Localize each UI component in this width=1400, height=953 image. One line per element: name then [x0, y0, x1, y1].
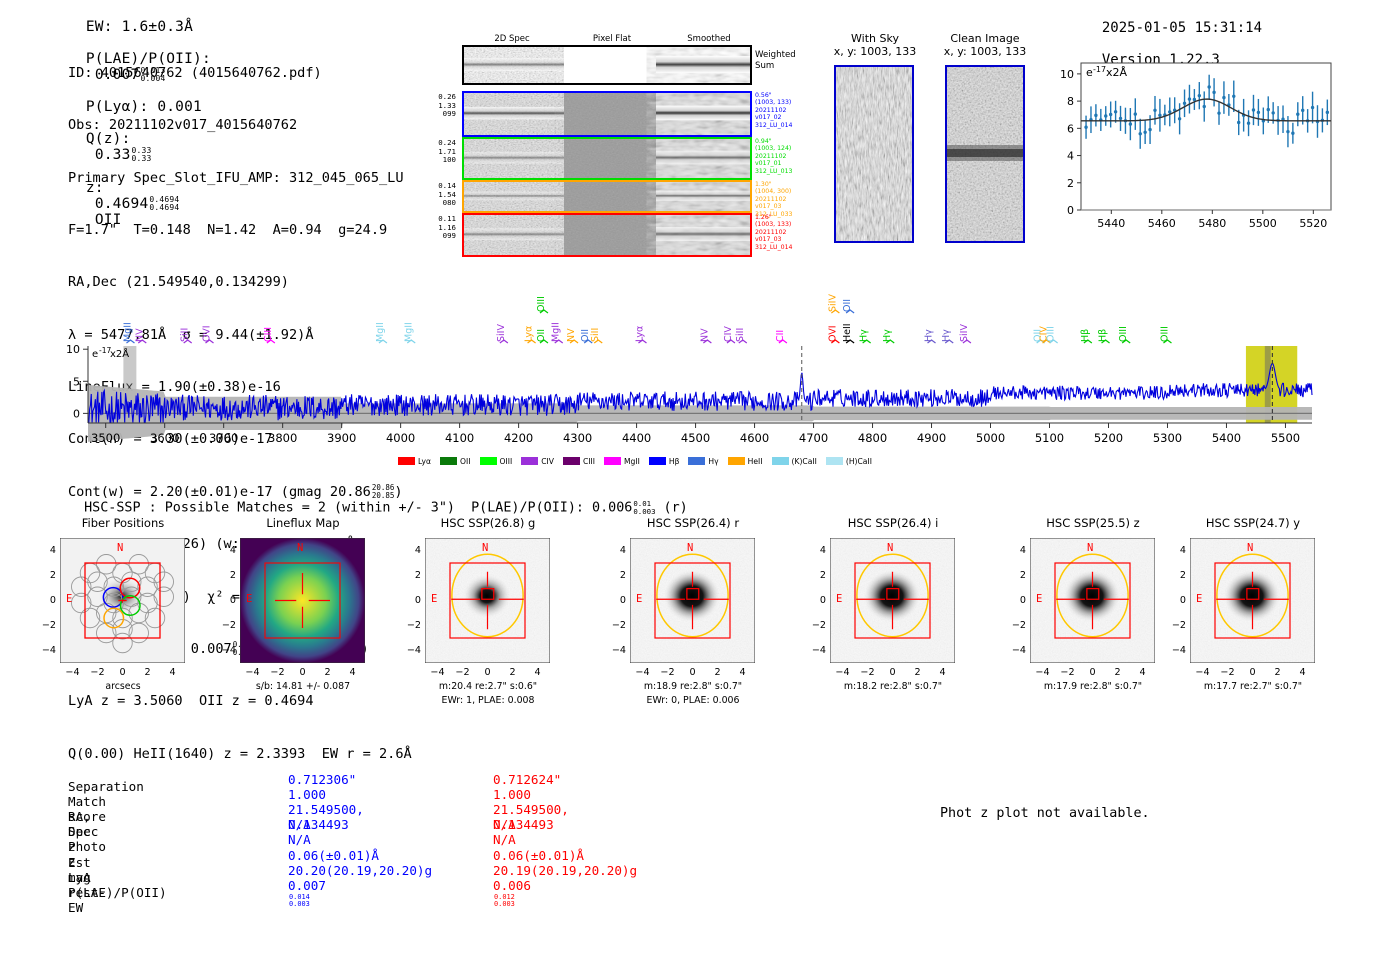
svg-text:SiII: SiII [180, 328, 191, 342]
panel-2-xtick: 0 [480, 667, 496, 678]
panel-1-caption1: s/b: 14.81 +/- 0.087 [218, 681, 388, 692]
panel-6-xtick: 0 [1245, 667, 1261, 678]
panel-3-ytick: −4 [604, 645, 626, 656]
with-sky-image [834, 65, 914, 243]
panel-1-ytick: −4 [214, 645, 236, 656]
info-q-heii: Q(0.00) HeII(1640) z = 2.3393 EW r = 2.6… [68, 746, 412, 763]
weighted-sum-line1: Weighted [755, 50, 796, 61]
fiber-right-value: 1.26" [755, 214, 815, 221]
svg-text:5520: 5520 [1299, 217, 1327, 230]
panel-title-5: HSC SSP(25.5) z [1018, 516, 1168, 530]
legend-label: Lyα [418, 457, 431, 466]
legend-label: Hγ [708, 457, 718, 466]
panel-4-xtick: −2 [860, 667, 876, 678]
table-match1-value-4: N/A [288, 832, 311, 847]
panel-3-ytick: 2 [604, 570, 626, 581]
svg-text:SiIV: SiIV [827, 294, 838, 312]
panel-1-ytick: 4 [214, 545, 236, 556]
svg-text:5200: 5200 [1094, 431, 1123, 445]
panel-5-ytick: −2 [1004, 620, 1026, 631]
svg-text:4400: 4400 [622, 431, 651, 445]
panel-5-ytick: 2 [1004, 570, 1026, 581]
table-label-0: Separation [68, 779, 144, 794]
fiber-left-value: 099 [412, 110, 456, 119]
fiber-right-value: 20211102 [755, 107, 815, 114]
svg-text:5500: 5500 [1271, 431, 1300, 445]
svg-text:5400: 5400 [1212, 431, 1241, 445]
svg-text:3800: 3800 [268, 431, 297, 445]
panel-4-ytick: 0 [804, 595, 826, 606]
svg-text:MgII: MgII [122, 322, 133, 342]
svg-text:OII: OII [842, 299, 853, 312]
fiber-right-value: 312_LU_014 [755, 244, 815, 251]
panel-title-4: HSC SSP(26.4) i [818, 516, 968, 530]
panel-title-3: HSC SSP(26.4) r [618, 516, 768, 530]
svg-text:+: + [120, 597, 126, 607]
fiber-4-right-labels: 1.26"(1003, 133)20211102v017_03312_LU_01… [755, 214, 815, 251]
svg-text:0: 0 [1067, 204, 1074, 217]
svg-text:-17: -17 [1093, 65, 1106, 74]
svg-text:e: e [92, 349, 98, 360]
compass-east-2: E [431, 593, 437, 605]
panel-2-ytick: 0 [399, 595, 421, 606]
panel-4-xtick: 0 [885, 667, 901, 678]
panel-2-xtick: −2 [455, 667, 471, 678]
clean-image-cutout [945, 65, 1025, 243]
svg-text:4000: 4000 [386, 431, 415, 445]
svg-text:Hγ: Hγ [924, 329, 935, 342]
svg-text:10: 10 [66, 343, 80, 356]
panel-0-xtick: −4 [65, 667, 81, 678]
panel-4-ytick: 4 [804, 545, 826, 556]
svg-text:4800: 4800 [858, 431, 887, 445]
panel-2-ytick: 4 [399, 545, 421, 556]
svg-text:Hγ: Hγ [859, 329, 870, 342]
panel-0-xtick: 0 [115, 667, 131, 678]
weighted-sum-panel [462, 45, 752, 85]
svg-text:4200: 4200 [504, 431, 533, 445]
panel-5-ytick: −4 [1004, 645, 1026, 656]
panel-4-ytick: −4 [804, 645, 826, 656]
table-match2-value-5: 0.06(±0.01)Å [493, 848, 584, 863]
col-title-2dspec: 2D Spec [462, 34, 562, 44]
photz-unavailable-note: Phot z plot not available. [940, 806, 1150, 821]
panel-image-6 [1190, 538, 1315, 663]
info-primary-spec: Primary Spec_Slot_IFU_AMP: 312_045_065_L… [68, 170, 412, 187]
panel-0-xtick: 4 [165, 667, 181, 678]
svg-text:SiIV: SiIV [959, 324, 970, 342]
fiber-left-value: 100 [412, 156, 456, 165]
panel-1-xtick: −4 [245, 667, 261, 678]
svg-text:3700: 3700 [209, 431, 238, 445]
svg-text:5500: 5500 [1249, 217, 1277, 230]
legend-item-ciii: CIII [563, 457, 595, 466]
panel-title-1: Lineflux Map [228, 516, 378, 530]
info-seeing: F=1.7" T=0.148 N=1.42 A=0.94 g=24.9 [68, 222, 412, 239]
panel-2-ytick: −4 [399, 645, 421, 656]
timestamp: 2025-01-05 15:31:14 [1102, 20, 1262, 36]
svg-text:MgII: MgII [403, 322, 414, 342]
panel-6-ytick: 2 [1164, 570, 1186, 581]
panel-4-xtick: 4 [935, 667, 951, 678]
panel-6-xtick: −2 [1220, 667, 1236, 678]
panel-1-xtick: −2 [270, 667, 286, 678]
legend-swatch [521, 457, 538, 465]
panel-0-ytick: 2 [34, 570, 56, 581]
legend-swatch [728, 457, 745, 465]
svg-text:OIII: OIII [1159, 326, 1170, 342]
panel-0-ytick: 0 [34, 595, 56, 606]
table-match2-value-3: N/A [493, 817, 516, 832]
svg-text:CII: CII [775, 330, 786, 342]
panel-0-xtick: −2 [90, 667, 106, 678]
svg-text:MgII: MgII [375, 322, 386, 342]
panel-6-ytick: 0 [1164, 595, 1186, 606]
legend-label: CIII [583, 457, 595, 466]
legend-swatch [398, 457, 415, 465]
panel-1-ytick: 2 [214, 570, 236, 581]
compass-north-4: N [887, 542, 893, 554]
svg-text:OII: OII [536, 329, 547, 342]
table-match2-value-7: 0.0060.0120.003 [493, 878, 531, 909]
panel-6-xtick: 2 [1270, 667, 1286, 678]
table-match1-value-3: N/A [288, 817, 311, 832]
compass-east-1: E [246, 593, 252, 605]
panel-3-xtick: −2 [660, 667, 676, 678]
panel-6-ytick: −4 [1164, 645, 1186, 656]
svg-text:8: 8 [1067, 95, 1074, 108]
fiber-right-value: (1003, 133) [755, 221, 815, 228]
legend-swatch [826, 457, 843, 465]
panel-5-xtick: 0 [1085, 667, 1101, 678]
line-fit-plot: 024681054405460548055005520e-17x2Å [1035, 55, 1335, 240]
svg-text:HeII: HeII [842, 323, 853, 342]
svg-text:x2Å: x2Å [1106, 66, 1128, 79]
panel-6-xtick: 4 [1295, 667, 1311, 678]
panel-5-xtick: 4 [1135, 667, 1151, 678]
svg-text:OVI: OVI [202, 325, 213, 342]
table-match1-value-7: 0.0070.0140.003 [288, 878, 326, 909]
clean-image-name: Clean Image [910, 32, 1060, 45]
table-match1-value-6: 20.20(20.19,20.20)g [288, 863, 432, 878]
panel-2-caption2: EWr: 1, PLAE: 0.008 [403, 695, 573, 706]
panel-3-caption1: m:18.9 re:2.8" s:0.7" [608, 681, 778, 692]
fiber-left-value: 099 [412, 232, 456, 241]
panel-1-xtick: 4 [345, 667, 361, 678]
info-obs: Obs: 20211102v017_4015640762 [68, 117, 412, 134]
fiber-1-left-labels: 0.261.33099 [412, 93, 456, 119]
table-match1-value-0: 0.712306" [288, 772, 356, 787]
svg-text:OVI: OVI [827, 325, 838, 342]
fiber-panel-3 [462, 180, 752, 213]
svg-text:4700: 4700 [799, 431, 828, 445]
panel-3-xtick: 4 [735, 667, 751, 678]
fiber-panel-1 [462, 91, 752, 137]
panel-2-ytick: 2 [399, 570, 421, 581]
fiber-3-left-labels: 0.141.54080 [412, 182, 456, 208]
legend-item-heii: HeII [728, 457, 763, 466]
panel-3-xtick: 2 [710, 667, 726, 678]
hsc-ssp-title: HSC-SSP : Possible Matches = 2 (within +… [68, 485, 688, 516]
compass-east-3: E [636, 593, 642, 605]
panel-5-xtick: 2 [1110, 667, 1126, 678]
svg-text:6: 6 [1067, 122, 1074, 135]
legend-label: OIII [500, 457, 513, 466]
col-title-smoothed: Smoothed [659, 34, 759, 44]
spectrum-legend: LyαOIIOIIICIVCIIIMgIIHβHγHeII(K)CaII(H)C… [398, 450, 1038, 469]
panel-3-caption2: EWr: 0, PLAE: 0.006 [608, 695, 778, 706]
panel-title-0: Fiber Positions [48, 516, 198, 530]
svg-text:2: 2 [1067, 177, 1074, 190]
panel-3-ytick: −2 [604, 620, 626, 631]
fiber-right-value: v017_03 [755, 203, 815, 210]
fiber-panel-2 [462, 137, 752, 180]
svg-text:5300: 5300 [1153, 431, 1182, 445]
table-match2-value-4: N/A [493, 832, 516, 847]
panel-image-2 [425, 538, 550, 663]
compass-east-0: E [66, 593, 72, 605]
fiber-right-value: 0.94" [755, 138, 815, 145]
fiber-2-right-labels: 0.94"(1003, 124)20211102v017_01312_LU_01… [755, 138, 815, 175]
table-match2-value-0: 0.712624" [493, 772, 561, 787]
full-spectrum-panel: 0510e-17x2Å35003600370038003900400041004… [0, 268, 1400, 473]
legend-item-kcaii: (K)CaII [772, 457, 817, 466]
svg-text:4100: 4100 [445, 431, 474, 445]
svg-text:Hγ: Hγ [882, 329, 893, 342]
table-match1-value-1: 1.000 [288, 787, 326, 802]
svg-text:NV: NV [566, 328, 577, 342]
svg-text:4: 4 [1067, 150, 1074, 163]
panel-4-ytick: −2 [804, 620, 826, 631]
hsc-title-text: HSC-SSP : Possible Matches = 2 (within +… [84, 501, 632, 516]
table-match2-value-6: 20.19(20.19,20.20)g [493, 863, 637, 878]
panel-4-xtick: −4 [835, 667, 851, 678]
legend-swatch [688, 457, 705, 465]
fiber-left-value: 080 [412, 199, 456, 208]
svg-text:4900: 4900 [917, 431, 946, 445]
panel-5-ytick: 4 [1004, 545, 1026, 556]
panel-6-caption1: m:17.7 re:2.7" s:0.7" [1168, 681, 1338, 692]
svg-text:OIII: OIII [1118, 326, 1129, 342]
panel-0-ytick: −4 [34, 645, 56, 656]
panel-6-ytick: 4 [1164, 545, 1186, 556]
panel-6-ytick: −2 [1164, 620, 1186, 631]
weighted-sum-label: Weighted Sum [755, 50, 796, 71]
legend-label: MgII [624, 457, 640, 466]
panel-image-1 [240, 538, 365, 663]
svg-text:Lyα: Lyα [524, 326, 535, 342]
fiber-2-left-labels: 0.241.71100 [412, 139, 456, 165]
fiber-3-right-labels: 1.30"(1004, 300)20211102v017_03312_LU_03… [755, 181, 815, 218]
legend-label: HeII [748, 457, 763, 466]
panel-2-xtick: 4 [530, 667, 546, 678]
svg-text:10: 10 [1060, 68, 1074, 81]
info-id: ID: 4015640762 (4015640762.pdf) [68, 65, 412, 82]
svg-text:0: 0 [73, 407, 80, 420]
svg-text:Hβ: Hβ [1080, 329, 1091, 342]
weighted-sum-line2: Sum [755, 61, 796, 72]
panel-title-6: HSC SSP(24.7) y [1178, 516, 1328, 530]
info-redshifts: LyA z = 3.5060 OII z = 0.4694 [68, 693, 412, 710]
svg-text:CIII: CIII [263, 327, 274, 342]
panel-image-5 [1030, 538, 1155, 663]
panel-4-xtick: 2 [910, 667, 926, 678]
svg-text:OIII: OIII [536, 296, 547, 312]
panel-image-0: + [60, 538, 185, 663]
compass-north-0: N [117, 542, 123, 554]
legend-swatch [440, 457, 457, 465]
table-match2-value-1: 1.000 [493, 787, 531, 802]
compass-north-2: N [482, 542, 488, 554]
svg-text:MgII: MgII [551, 322, 562, 342]
legend-item-hβ: Hβ [649, 457, 680, 466]
panel-0-xlabel: arcsecs [38, 681, 208, 692]
legend-swatch [772, 457, 789, 465]
panel-3-ytick: 0 [604, 595, 626, 606]
legend-label: Hβ [669, 457, 680, 466]
svg-text:3900: 3900 [327, 431, 356, 445]
compass-north-6: N [1247, 542, 1253, 554]
svg-text:e: e [1086, 66, 1093, 79]
svg-text:NV: NV [134, 328, 145, 342]
svg-text:SiIV: SiIV [496, 324, 507, 342]
legend-label: OII [460, 457, 470, 466]
panel-5-xtick: −4 [1035, 667, 1051, 678]
panel-image-4 [830, 538, 955, 663]
panel-1-ytick: −2 [214, 620, 236, 631]
fiber-panel-4 [462, 213, 752, 257]
table-label-7: P(LAE)/P(OII) [68, 885, 167, 900]
fiber-right-value: (1003, 124) [755, 145, 815, 152]
svg-text:4600: 4600 [740, 431, 769, 445]
legend-item-lyα: Lyα [398, 457, 431, 466]
panel-1-xtick: 0 [295, 667, 311, 678]
panel-3-ytick: 4 [604, 545, 626, 556]
panel-2-ytick: −2 [399, 620, 421, 631]
legend-swatch [563, 457, 580, 465]
svg-text:SiII: SiII [735, 328, 746, 342]
legend-swatch [480, 457, 497, 465]
legend-item-hγ: Hγ [688, 457, 718, 466]
fiber-right-value: v017_01 [755, 160, 815, 167]
svg-text:OIII: OIII [1046, 326, 1057, 342]
svg-text:Hγ: Hγ [941, 329, 952, 342]
svg-text:5: 5 [73, 375, 80, 388]
fiber-1-right-labels: 0.56"(1003, 133)20211102v017_02312_LU_01… [755, 92, 815, 129]
svg-text:3500: 3500 [91, 431, 120, 445]
panel-1-xtick: 2 [320, 667, 336, 678]
fiber-right-value: (1003, 133) [755, 99, 815, 106]
svg-text:4500: 4500 [681, 431, 710, 445]
svg-text:NV: NV [699, 328, 710, 342]
fiber-right-value: 20211102 [755, 229, 815, 236]
compass-north-1: N [297, 542, 303, 554]
panel-2-xtick: 2 [505, 667, 521, 678]
table-match1-value-5: 0.06(±0.01)Å [288, 848, 379, 863]
panel-0-ytick: −2 [34, 620, 56, 631]
fiber-right-value: 312_LU_013 [755, 168, 815, 175]
panel-3-xtick: 0 [685, 667, 701, 678]
col-title-pixelflat: Pixel Flat [562, 34, 662, 44]
panel-0-xtick: 2 [140, 667, 156, 678]
svg-text:5460: 5460 [1148, 217, 1176, 230]
compass-north-3: N [687, 542, 693, 554]
fiber-right-value: 20211102 [755, 153, 815, 160]
panel-title-2: HSC SSP(26.8) g [413, 516, 563, 530]
panel-2-caption1: m:20.4 re:2.7" s:0.6" [403, 681, 573, 692]
fiber-right-value: (1004, 300) [755, 188, 815, 195]
compass-east-6: E [1196, 593, 1202, 605]
fiber-right-value: v017_03 [755, 236, 815, 243]
fiber-right-value: 20211102 [755, 196, 815, 203]
panel-5-caption1: m:17.9 re:2.8" s:0.7" [1008, 681, 1178, 692]
panel-2-xtick: −4 [430, 667, 446, 678]
svg-text:Hβ: Hβ [1098, 329, 1109, 342]
fiber-right-value: 1.30" [755, 181, 815, 188]
svg-text:CIV: CIV [723, 326, 734, 342]
legend-item-hcaii: (H)CaII [826, 457, 872, 466]
panel-4-ytick: 2 [804, 570, 826, 581]
svg-text:5000: 5000 [976, 431, 1005, 445]
panel-1-ytick: 0 [214, 595, 236, 606]
panel-6-xtick: −4 [1195, 667, 1211, 678]
legend-swatch [604, 457, 621, 465]
legend-item-mgii: MgII [604, 457, 640, 466]
legend-item-oii: OII [440, 457, 470, 466]
table-label-6: mag [68, 870, 91, 885]
fiber-right-value: 312_LU_014 [755, 122, 815, 129]
svg-text:5100: 5100 [1035, 431, 1064, 445]
fiber-4-left-labels: 0.111.16099 [412, 215, 456, 241]
svg-text:Lyα: Lyα [634, 326, 645, 342]
legend-swatch [649, 457, 666, 465]
panel-5-ytick: 0 [1004, 595, 1026, 606]
svg-text:SiII: SiII [590, 328, 601, 342]
svg-text:4300: 4300 [563, 431, 592, 445]
fiber-right-value: 0.56" [755, 92, 815, 99]
legend-label: CIV [541, 457, 554, 466]
legend-label: (H)CaII [846, 457, 872, 466]
legend-label: (K)CaII [792, 457, 817, 466]
legend-item-oiii: OIII [480, 457, 513, 466]
svg-text:3600: 3600 [150, 431, 179, 445]
svg-text:5480: 5480 [1198, 217, 1226, 230]
compass-east-5: E [1036, 593, 1042, 605]
legend-item-civ: CIV [521, 457, 554, 466]
panel-5-xtick: −2 [1060, 667, 1076, 678]
panel-image-3 [630, 538, 755, 663]
panel-0-ytick: 4 [34, 545, 56, 556]
panel-4-caption1: m:18.2 re:2.8" s:0.7" [808, 681, 978, 692]
fiber-right-value: v017_02 [755, 114, 815, 121]
compass-east-4: E [836, 593, 842, 605]
svg-text:x2Å: x2Å [110, 347, 129, 360]
panel-3-xtick: −4 [635, 667, 651, 678]
svg-text:5440: 5440 [1097, 217, 1125, 230]
compass-north-5: N [1087, 542, 1093, 554]
